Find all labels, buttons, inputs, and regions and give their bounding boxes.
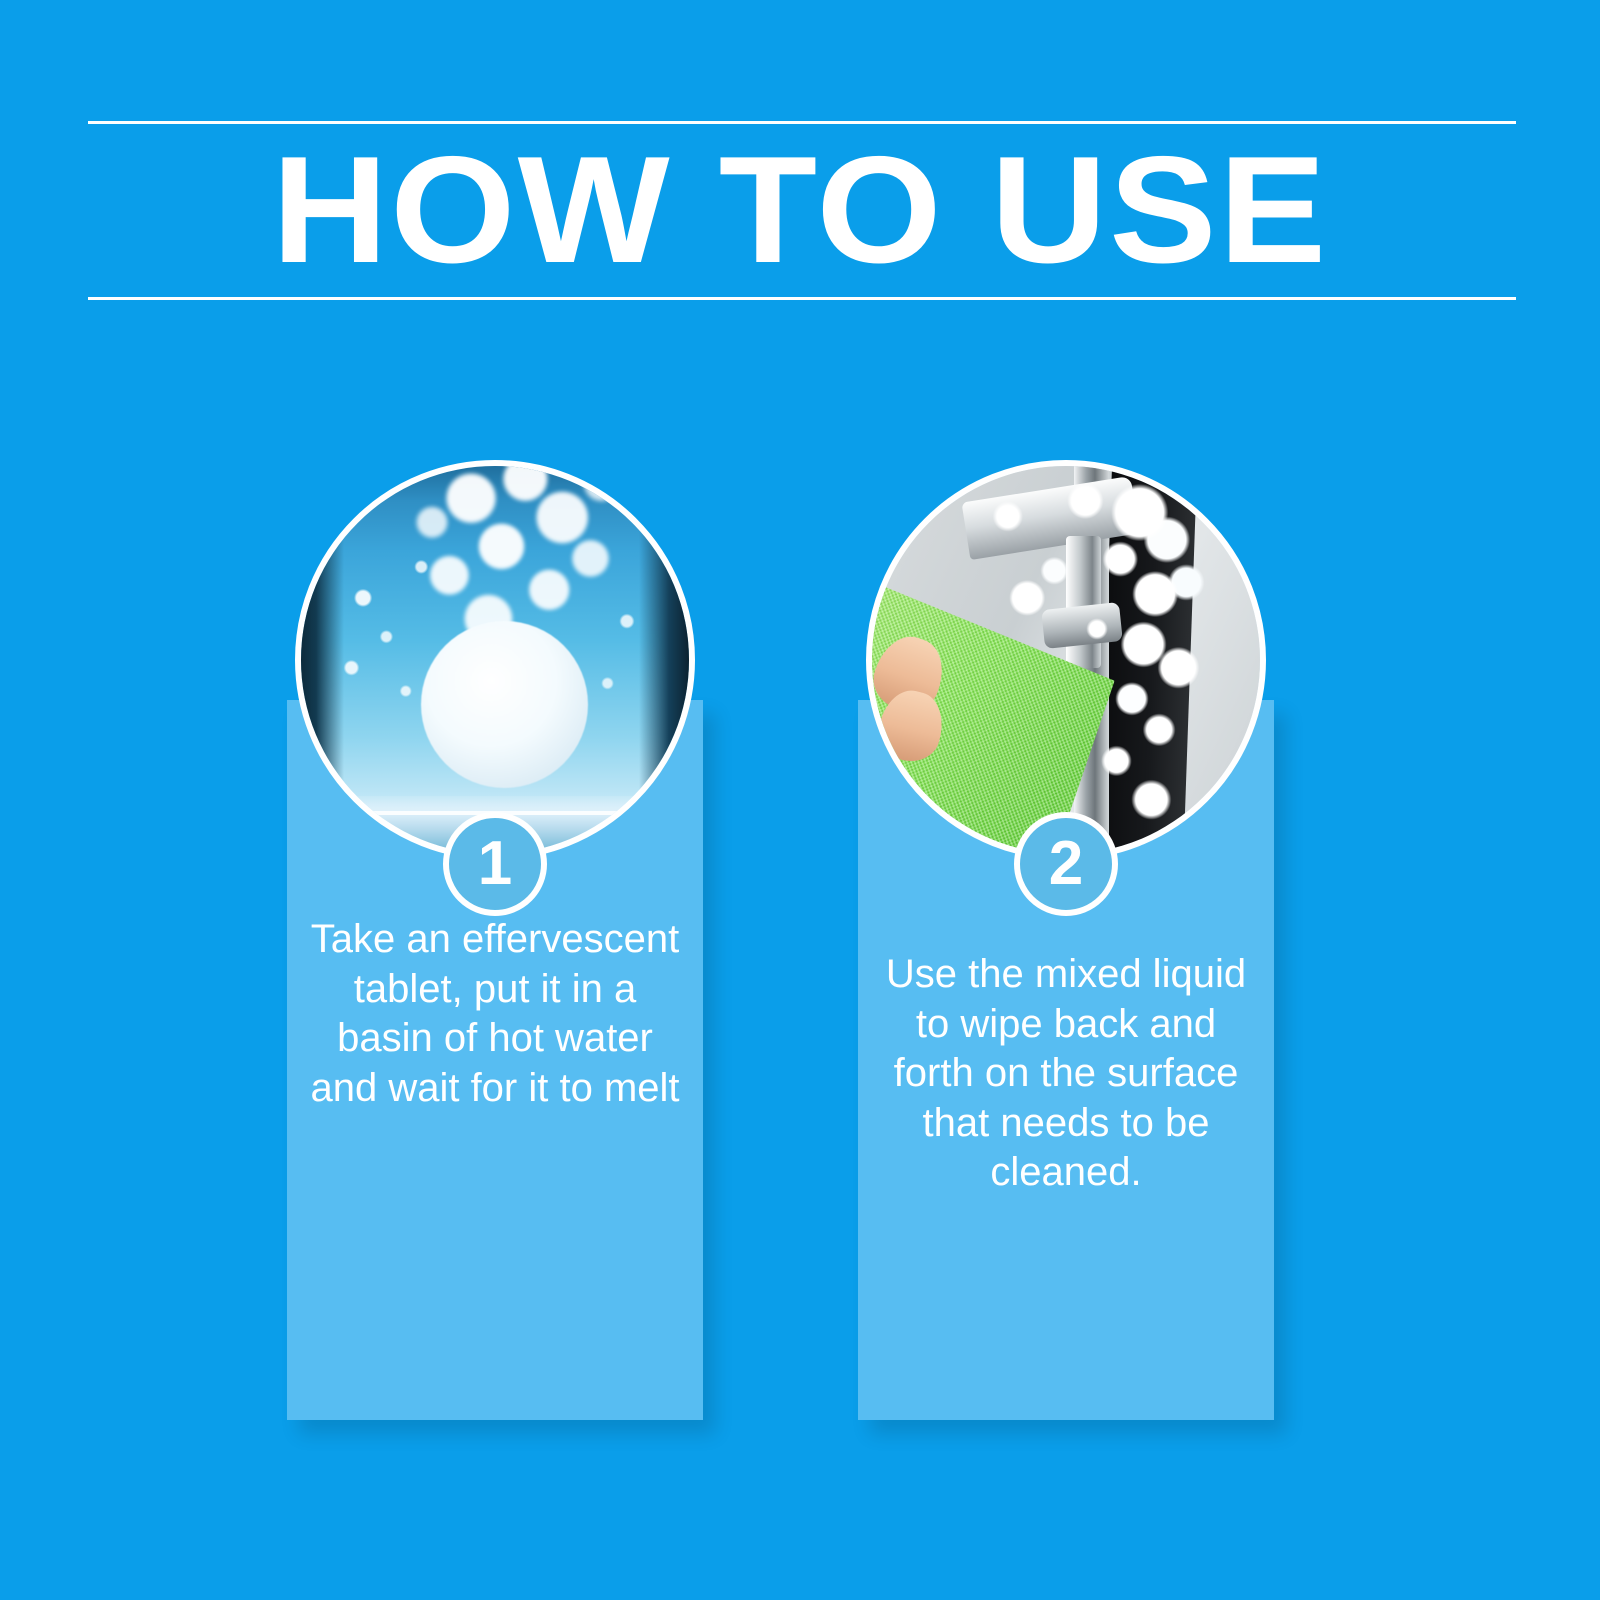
step-2-description: Use the mixed liquid to wipe back and fo… [858, 950, 1274, 1198]
step-2-photo-circle [866, 460, 1266, 860]
step-1-photo [295, 460, 695, 860]
step-2-photo [866, 460, 1266, 860]
step-1-photo-circle [295, 460, 695, 860]
step-badge-1: 1 [443, 812, 547, 916]
step-badge-2: 2 [1014, 812, 1118, 916]
step-badge-1-number: 1 [478, 833, 512, 895]
how-to-use-infographic: HOW TO USE Take an effervescent tablet, … [0, 0, 1600, 1600]
page-title: HOW TO USE [0, 124, 1600, 296]
header-rule-bottom [88, 297, 1516, 300]
step-badge-2-number: 2 [1049, 833, 1083, 895]
cloth-wiping-faucet-image [872, 466, 1260, 854]
effervescent-tablet-image [301, 466, 689, 854]
tablet-shape [421, 621, 588, 788]
step-1-description: Take an effervescent tablet, put it in a… [287, 915, 703, 1113]
